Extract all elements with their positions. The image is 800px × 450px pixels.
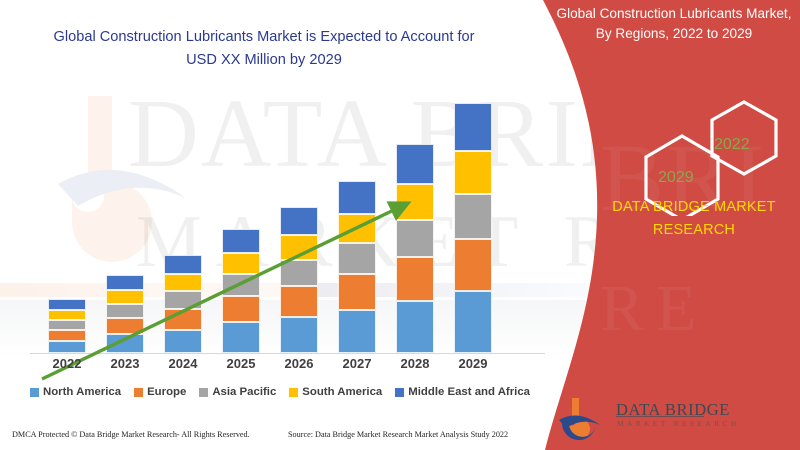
panel-title-line-2: By Regions, 2022 to 2029 [548, 24, 800, 44]
data-bridge-logo-subtitle: MARKET RESEARCH [617, 419, 740, 428]
data-bridge-logo-rule [616, 416, 704, 417]
brand-text: DATA BRIDGE MARKET RESEARCH [594, 196, 794, 242]
hexagon-2022-label: 2022 [714, 136, 750, 154]
brand-line-1: DATA BRIDGE MARKET [594, 196, 794, 219]
panel-title-line-1: Global Construction Lubricants Market, [548, 4, 800, 24]
infographic-root: DATA BRIDGE MARKET RESEARCH Global Const… [0, 0, 800, 450]
panel-title: Global Construction Lubricants Market, B… [548, 4, 800, 45]
data-bridge-logo-word: DATA BRIDGE [616, 400, 730, 420]
brand-line-2: RESEARCH [594, 219, 794, 242]
svg-text:RE: RE [600, 272, 708, 345]
hexagon-2029-label: 2029 [658, 169, 694, 187]
